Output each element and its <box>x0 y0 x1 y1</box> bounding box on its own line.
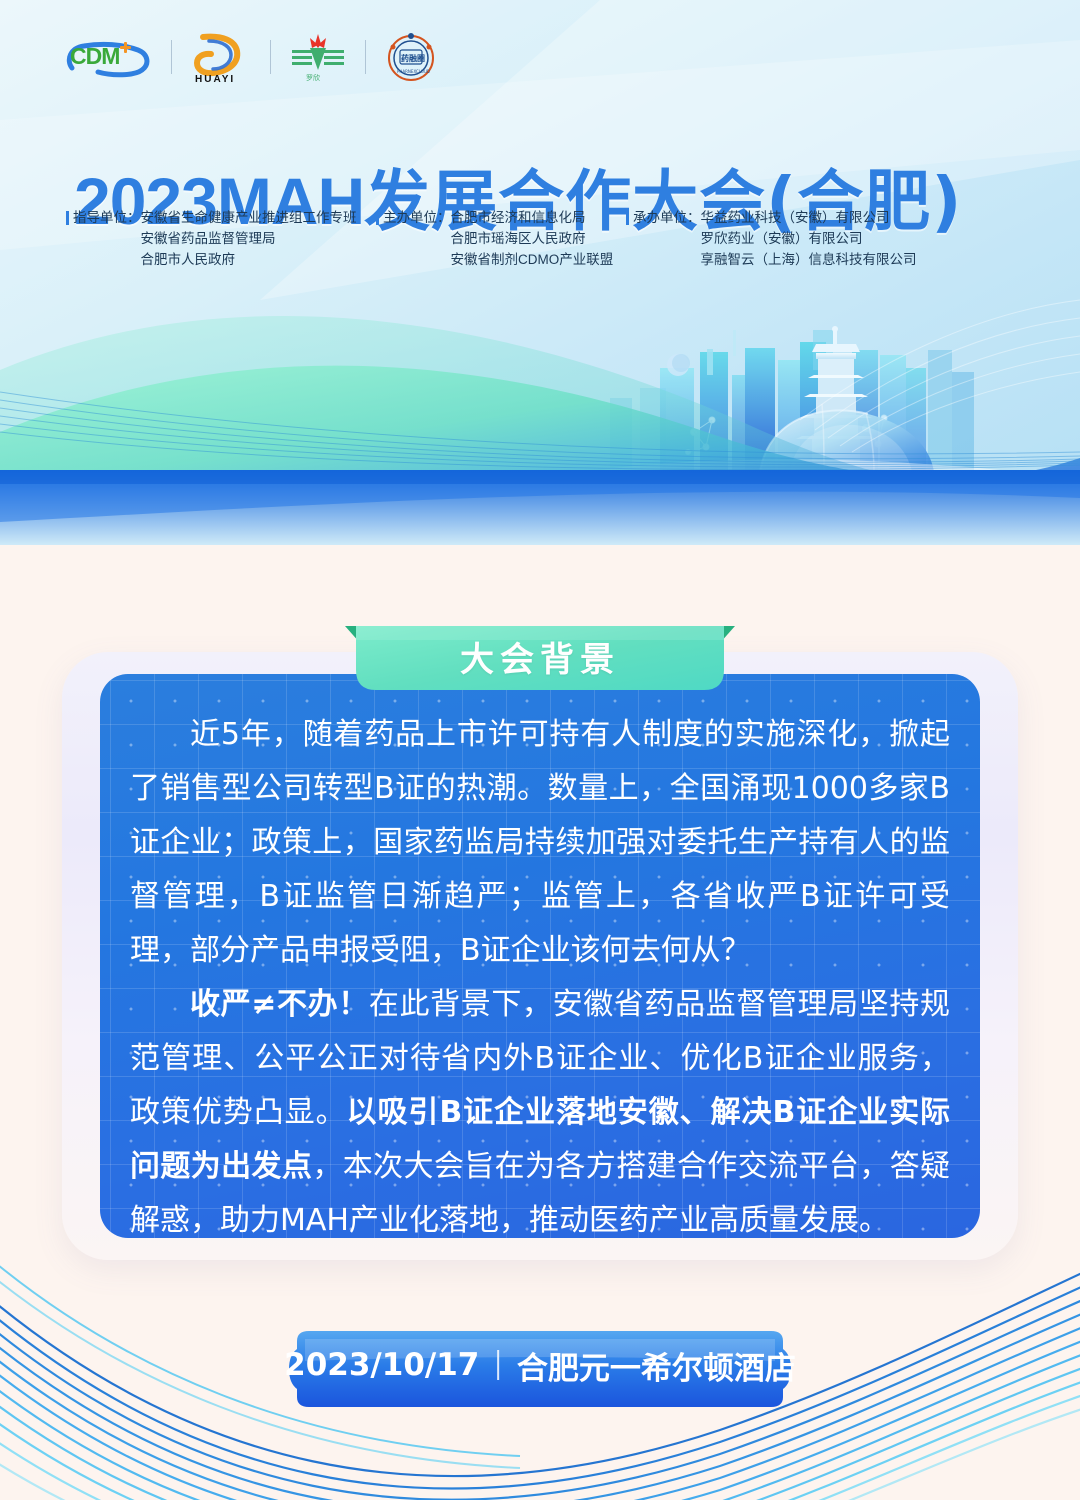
credit-group-organizer: 承办单位： 华益药业科技（安徽）有限公司 罗欣药业（安徽）有限公司 享融智云（上… <box>626 207 917 270</box>
credit-item: 合肥市经济和信息化局 <box>451 207 614 228</box>
svg-text:药融圈: 药融圈 <box>401 53 425 63</box>
credit-item: 合肥市人民政府 <box>141 249 357 270</box>
paragraph-2: 收严≠不办！在此背景下，安徽省药品监督管理局坚持规范管理、公平公正对待省内外B证… <box>130 978 950 1238</box>
cdm-logo-icon: CDM <box>62 34 154 80</box>
run-text-bold: 收严≠不办！ <box>190 987 369 1022</box>
svg-text:HUAYI: HUAYI <box>195 74 235 83</box>
header-banner: CDM HUAYI <box>0 0 1080 545</box>
credit-item: 华益药业科技（安徽）有限公司 <box>701 207 917 228</box>
event-venue: 合肥元一希尔顿酒店 <box>517 1343 796 1388</box>
credit-bar <box>376 211 379 225</box>
yaorongyun-logo-icon: 药融圈 PHARNEXCLOUD <box>383 31 439 83</box>
svg-text:PHARNEXCLOUD: PHARNEXCLOUD <box>397 69 430 74</box>
credit-item: 安徽省生命健康产业推进组工作专班 <box>141 207 357 228</box>
credit-group-host: 主办单位： 合肥市经济和信息化局 合肥市瑶海区人民政府 安徽省制剂CDMO产业联… <box>376 207 606 270</box>
section-title: 大会背景 <box>0 632 1080 681</box>
cdm-logo: CDM <box>62 28 154 86</box>
logo-divider <box>365 40 366 74</box>
yaorongyun-logo: 药融圈 PHARNEXCLOUD <box>383 28 439 86</box>
credit-group-guidance: 指导单位： 安徽省生命健康产业推进组工作专班 安徽省药品监督管理局 合肥市人民政… <box>66 207 356 270</box>
credit-bar <box>66 211 69 225</box>
huayi-logo: HUAYI <box>189 28 253 86</box>
logo-divider <box>270 40 271 74</box>
paragraph-1: 近5年，随着药品上市许可持有人制度的实施深化，掀起了销售型公司转型B证的热潮。数… <box>130 708 950 978</box>
luoxin-logo-icon: 罗欣 <box>288 32 348 82</box>
credit-item: 安徽省药品监督管理局 <box>141 228 357 249</box>
credit-label: 指导单位： <box>73 207 141 228</box>
luoxin-logo: 罗欣 <box>288 28 348 86</box>
credit-item: 享融智云（上海）信息科技有限公司 <box>701 249 917 270</box>
background-body-text: 近5年，随着药品上市许可持有人制度的实施深化，掀起了销售型公司转型B证的热潮。数… <box>100 674 980 1238</box>
credit-item: 合肥市瑶海区人民政府 <box>451 228 614 249</box>
credit-list: 华益药业科技（安徽）有限公司 罗欣药业（安徽）有限公司 享融智云（上海）信息科技… <box>701 207 917 270</box>
credit-list: 安徽省生命健康产业推进组工作专班 安徽省药品监督管理局 合肥市人民政府 <box>141 207 357 270</box>
poster-root: CDM HUAYI <box>0 0 1080 1500</box>
credit-item: 罗欣药业（安徽）有限公司 <box>701 228 917 249</box>
organizer-credits: 指导单位： 安徽省生命健康产业推进组工作专班 安徽省药品监督管理局 合肥市人民政… <box>66 207 917 270</box>
credit-bar <box>626 211 629 225</box>
credit-label: 承办单位： <box>633 207 701 228</box>
svg-text:罗欣: 罗欣 <box>306 73 320 82</box>
event-info-pill: 2023/10/17 合肥元一希尔顿酒店 <box>250 1337 830 1393</box>
svg-text:CDM: CDM <box>70 43 119 69</box>
credit-list: 合肥市经济和信息化局 合肥市瑶海区人民政府 安徽省制剂CDMO产业联盟 <box>451 207 614 270</box>
background-section-card-frame: 近5年，随着药品上市许可持有人制度的实施深化，掀起了销售型公司转型B证的热潮。数… <box>62 652 1018 1260</box>
event-date: 2023/10/17 <box>284 1347 479 1383</box>
credit-item: 安徽省制剂CDMO产业联盟 <box>451 249 614 270</box>
pill-divider <box>497 1350 499 1380</box>
huayi-logo-icon: HUAYI <box>189 31 253 83</box>
logo-divider <box>171 40 172 74</box>
sponsor-logo-bar: CDM HUAYI <box>62 28 439 86</box>
run-text: 近5年，随着药品上市许可持有人制度的实施深化，掀起了销售型公司转型B证的热潮。数… <box>130 717 950 968</box>
credit-label: 主办单位： <box>383 207 451 228</box>
background-section-card: 近5年，随着药品上市许可持有人制度的实施深化，掀起了销售型公司转型B证的热潮。数… <box>100 674 980 1238</box>
